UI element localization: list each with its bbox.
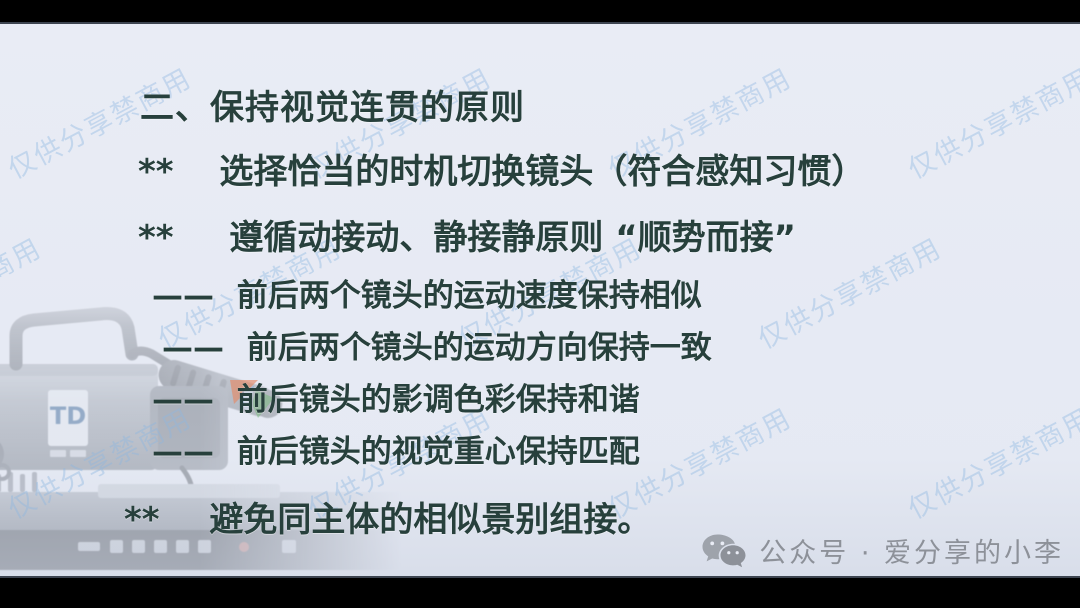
slide-heading: 二、保持视觉连贯的原则 — [140, 80, 525, 129]
bullet-text: 避免同主体的相似景别组接。 — [209, 500, 651, 540]
bullet-row: ** 遵循动接动、静接静原则 “顺势而接” — [138, 210, 796, 259]
bullet-row: ** 避免同主体的相似景别组接。 — [124, 492, 651, 541]
letterbox-top-edge — [0, 22, 1080, 24]
bullet-row: ** 选择恰当的时机切换镜头（符合感知习惯） — [138, 144, 865, 193]
video-frame: TD — [0, 0, 1080, 608]
watermark-text: 仅供分享禁商用 — [900, 57, 1080, 187]
channel-badge: 公众号 · 爱分享的小李 — [701, 528, 1064, 572]
bullet-marker: ** — [124, 500, 160, 540]
bullet-marker: ** — [138, 152, 174, 192]
sub-item-text: 前后两个镜头的运动速度保持相似 — [237, 278, 702, 314]
sub-item-marker: —— — [152, 382, 214, 418]
sub-item-marker: —— — [152, 278, 214, 314]
watermark-text: 仅供分享禁商用 — [900, 397, 1080, 527]
bullet-marker: ** — [138, 218, 174, 258]
bullet-text: 遵循动接动、静接静原则 “顺势而接” — [229, 218, 796, 258]
slide-canvas: TD — [0, 22, 1080, 578]
letterbox-bottom — [0, 578, 1080, 608]
bullet-text: 选择恰当的时机切换镜头（符合感知习惯） — [219, 152, 865, 192]
sub-item-text: 前后镜头的影调色彩保持和谐 — [237, 382, 640, 418]
letterbox-bottom-edge — [0, 576, 1080, 578]
sub-item-text: 前后镜头的视觉重心保持匹配 — [237, 434, 640, 470]
sub-item-row: —— 前后镜头的视觉重心保持匹配 — [152, 426, 640, 471]
wechat-icon — [701, 532, 747, 568]
sub-item-row: —— 前后镜头的影调色彩保持和谐 — [152, 374, 640, 419]
sub-item-text: 前后两个镜头的运动方向保持一致 — [247, 330, 712, 366]
sub-item-marker: —— — [162, 330, 224, 366]
letterbox-top — [0, 0, 1080, 22]
channel-label: 公众号 · 爱分享的小李 — [759, 531, 1064, 570]
svg-text:TD: TD — [50, 402, 86, 430]
sub-item-marker: —— — [152, 434, 214, 470]
sub-item-row: —— 前后两个镜头的运动方向保持一致 — [162, 322, 712, 367]
sub-item-row: —— 前后两个镜头的运动速度保持相似 — [152, 270, 702, 315]
